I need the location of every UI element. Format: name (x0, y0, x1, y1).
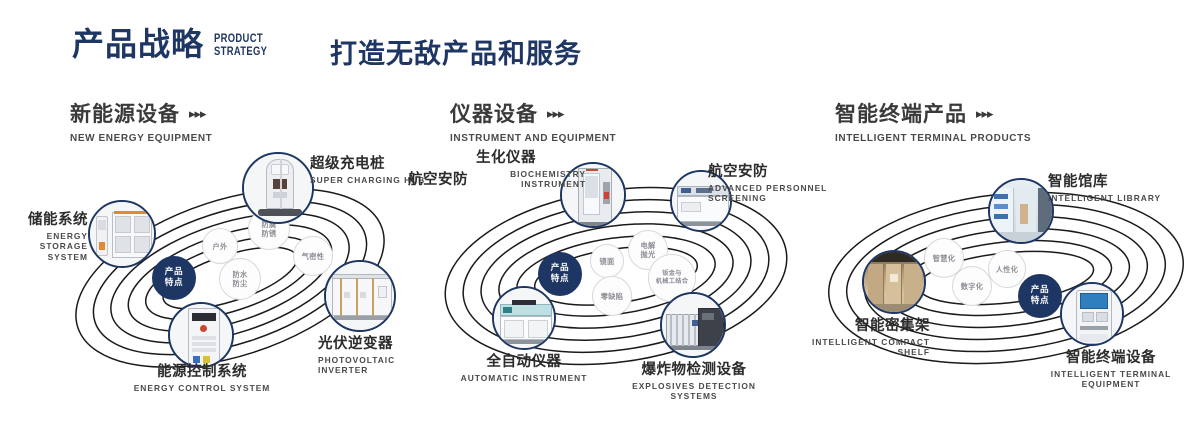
feature-core-text: 产品特点 (551, 263, 569, 284)
chevron-right-triple-icon: ▸▸▸ (547, 107, 564, 120)
node-label-intelligent-terminal-equipment: 智能终端设备 INTELLIGENT TERMINAL EQUIPMENT (1022, 350, 1200, 390)
node-energy-control-system[interactable] (168, 302, 234, 368)
section-title-en: NEW ENERGY EQUIPMENT (70, 133, 212, 144)
feature-core-text: 产品特点 (1031, 285, 1049, 306)
node-label-en: INTELLIGENT COMPACT SHELF (770, 337, 930, 358)
node-photovoltaic-inverter[interactable] (324, 260, 396, 332)
node-label-cn: 全自动仪器 (440, 354, 608, 371)
node-label-cn: 储能系统 (0, 212, 88, 229)
page-title: 产品战略 PRODUCT STRATEGY (72, 28, 279, 60)
section-title-cn: 智能终端产品 (835, 98, 967, 128)
feature-core-bubble: 产品特点 (152, 256, 196, 300)
node-intelligent-library[interactable] (988, 178, 1054, 244)
energy-storage-cabinet-icon (90, 202, 154, 266)
page-title-en-line1: PRODUCT (214, 33, 267, 45)
node-explosives-detection-systems[interactable] (660, 292, 726, 358)
cluster-intelligent-terminal: 智慧化 数字化 人性化 产品特点 智能馆库 INTELLIGENT LIBRAR… (810, 150, 1200, 400)
chevron-right-triple-icon: ▸▸▸ (976, 107, 993, 120)
section-heading-instrument: 仪器设备 ▸▸▸ INSTRUMENT AND EQUIPMENT (450, 98, 616, 144)
feature-core-text: 产品特点 (165, 267, 183, 288)
section-title-cn: 仪器设备 (450, 98, 538, 128)
smart-library-icon (990, 180, 1052, 242)
page-subtitle: 打造无敌产品和服务 (330, 32, 582, 71)
feature-bubble: 镜面 (590, 244, 624, 278)
feature-text: 钣金与机械工结合 (656, 270, 688, 286)
node-super-charging-hub[interactable] (242, 152, 314, 224)
node-label-cn: 超级充电桩 (310, 156, 430, 173)
node-intelligent-terminal-equipment[interactable] (1060, 282, 1124, 346)
compact-shelf-icon (864, 252, 924, 312)
feature-text: 气密性 (302, 252, 324, 261)
feature-bubble: 数字化 (952, 266, 992, 306)
node-label-automatic-instrument: 全自动仪器 AUTOMATIC INSTRUMENT (440, 354, 608, 383)
feature-text: 电解抛光 (641, 241, 656, 259)
node-label-en: INTELLIGENT LIBRARY (1048, 193, 1198, 204)
cluster-new-energy: 产品特点 户外 防腐防锈 防水防尘 气密性 储能系统 ENERGY STORAG… (40, 150, 420, 400)
feature-text: 人性化 (996, 265, 1018, 274)
feature-text: 零缺陷 (601, 292, 623, 301)
feature-bubble: 防水防尘 (219, 258, 261, 300)
pv-inverter-cabinet-icon (326, 262, 394, 330)
node-label-cn: 智能终端设备 (1022, 350, 1200, 367)
page-title-cn: 产品战略 (72, 28, 204, 60)
node-label-energy-storage-system: 储能系统 ENERGY STORAGE SYSTEM (0, 212, 88, 262)
node-label-cn: 智能密集架 (770, 318, 930, 335)
page-title-en: PRODUCT STRATEGY (214, 33, 267, 58)
section-heading-intelligent-terminal: 智能终端产品 ▸▸▸ INTELLIGENT TERMINAL PRODUCTS (835, 98, 1031, 144)
node-label-energy-control-system: 能源控制系统 ENERGY CONTROL SYSTEM (92, 364, 312, 393)
feature-bubble: 零缺陷 (592, 276, 632, 316)
section-title-en: INSTRUMENT AND EQUIPMENT (450, 133, 616, 144)
control-cabinet-icon (170, 304, 232, 366)
node-label-intelligent-library: 智能馆库 INTELLIGENT LIBRARY (1048, 174, 1198, 203)
node-intelligent-compact-shelf[interactable] (862, 250, 926, 314)
node-label-en: ENERGY STORAGE SYSTEM (0, 231, 88, 263)
product-strategy-infographic: 产品战略 PRODUCT STRATEGY 打造无敌产品和服务 新能源设备 ▸▸… (0, 0, 1200, 422)
node-label-en: BIOCHEMISTRY INSTRUMENT (476, 169, 586, 190)
node-label-en: INTELLIGENT TERMINAL EQUIPMENT (1022, 369, 1200, 390)
charging-pile-icon (244, 154, 312, 222)
node-label-en: EXPLOSIVES DETECTION SYSTEMS (614, 381, 774, 402)
automatic-analyzer-icon (494, 288, 554, 348)
chevron-right-triple-icon: ▸▸▸ (189, 107, 206, 120)
node-label-explosives-detection-systems: 爆炸物检测设备 EXPLOSIVES DETECTION SYSTEMS (614, 362, 774, 402)
node-label-cn: 爆炸物检测设备 (614, 362, 774, 379)
feature-text: 户外 (213, 242, 228, 251)
feature-text: 镜面 (600, 257, 615, 266)
feature-text: 智慧化 (933, 254, 955, 263)
cluster-instrument: 产品特点 镜面 电解抛光 零缺陷 钣金与机械工结合 航空安防 生化仪器 BIOC… (420, 150, 810, 400)
feature-text: 数字化 (961, 282, 983, 291)
explosives-detector-icon (662, 294, 724, 356)
node-label-intelligent-compact-shelf: 智能密集架 INTELLIGENT COMPACT SHELF (770, 318, 930, 358)
node-label-en: ENERGY CONTROL SYSTEM (92, 383, 312, 394)
node-label-cn: 能源控制系统 (92, 364, 312, 381)
section-heading-new-energy: 新能源设备 ▸▸▸ NEW ENERGY EQUIPMENT (70, 98, 212, 144)
section-title-en: INTELLIGENT TERMINAL PRODUCTS (835, 133, 1031, 144)
section-title-cn: 新能源设备 (70, 98, 180, 128)
page-title-en-line2: STRATEGY (214, 46, 267, 58)
node-label-biochemistry-instrument: 生化仪器 BIOCHEMISTRY INSTRUMENT (476, 150, 586, 190)
node-automatic-instrument[interactable] (492, 286, 556, 350)
feature-core-bubble: 产品特点 (1018, 274, 1062, 318)
feature-bubble: 人性化 (988, 250, 1026, 288)
node-energy-storage-system[interactable] (88, 200, 156, 268)
node-label-cn: 智能馆库 (1048, 174, 1198, 191)
feature-text: 防水防尘 (233, 270, 248, 288)
node-label-cn: 生化仪器 (476, 150, 586, 167)
self-service-kiosk-icon (1062, 284, 1122, 344)
node-label-en: AUTOMATIC INSTRUMENT (440, 373, 608, 384)
